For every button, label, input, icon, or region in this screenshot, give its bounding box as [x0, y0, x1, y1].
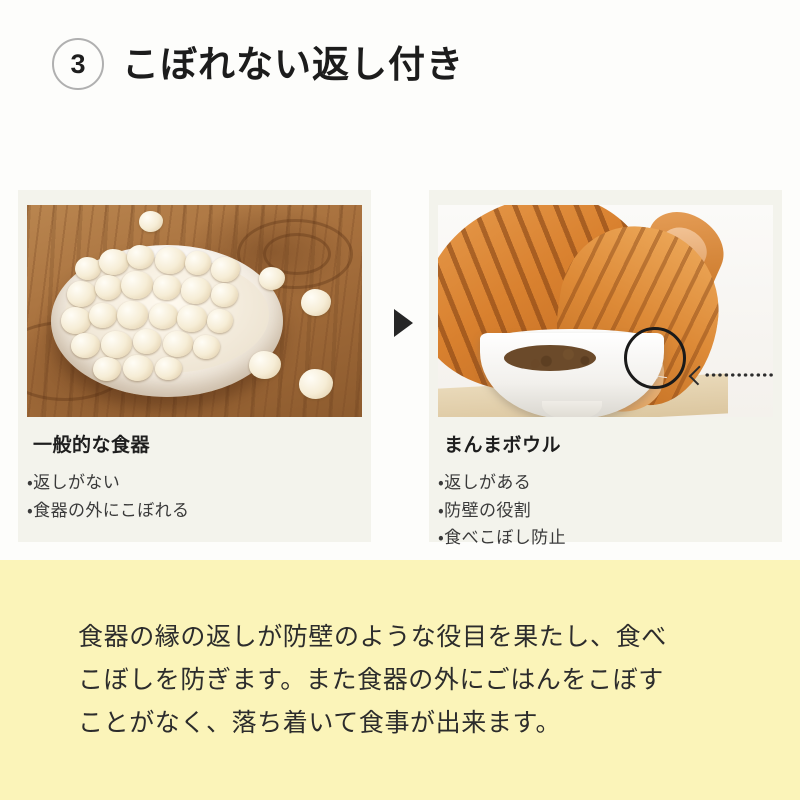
infographic-page: 3 こぼれない返し付き: [0, 0, 800, 800]
comparison-panel-right: まんまボウル ・返しがある ・防壁の役割 ・食べこぼし防止: [429, 190, 782, 542]
list-item: ・防壁の役割: [438, 497, 768, 525]
cat-food-kibble: [504, 345, 596, 371]
page-title: こぼれない返し付き: [122, 46, 464, 83]
caption-bullet-list: ・返しがない ・食器の外にこぼれる: [27, 469, 357, 524]
list-item: ・食べこぼし防止: [438, 524, 768, 552]
caption-title: 一般的な食器: [33, 430, 357, 457]
photo-manma-bowl: [438, 205, 773, 417]
triangle-right-icon: [394, 309, 413, 337]
comparison-section: 一般的な食器 ・返しがない ・食器の外にこぼれる: [0, 190, 800, 542]
summary-line-3: ことがなく、落ち着いて食事が出来ます。: [78, 702, 738, 745]
list-item: ・食器の外にこぼれる: [27, 497, 357, 525]
summary-text: 食器の縁の返しが防壁のような役目を果たし、食べ こぼしを防ぎます。また食器の外に…: [78, 616, 738, 745]
caption-title: まんまボウル: [444, 430, 768, 457]
comparison-panel-left: 一般的な食器 ・返しがない ・食器の外にこぼれる: [18, 190, 371, 542]
dotted-arrow-icon: [692, 368, 773, 382]
caption-common-bowl: 一般的な食器 ・返しがない ・食器の外にこぼれる: [27, 430, 357, 524]
summary-line-2: こぼしを防ぎます。また食器の外にごはんをこぼす: [78, 659, 738, 702]
arrow-dots: [704, 373, 773, 377]
page-heading: 3 こぼれない返し付き: [52, 38, 464, 90]
caption-bullet-list: ・返しがある ・防壁の役割 ・食べこぼし防止: [438, 469, 768, 552]
photo-common-bowl: [27, 205, 362, 417]
step-number-text: 3: [70, 49, 85, 80]
step-number-badge: 3: [52, 38, 104, 90]
list-item: ・返しがない: [27, 469, 357, 497]
summary-band: 食器の縁の返しが防壁のような役目を果たし、食べ こぼしを防ぎます。また食器の外に…: [0, 560, 800, 800]
rim-highlight-circle-icon: [624, 327, 686, 389]
bowl-foot: [542, 401, 602, 417]
caption-manma-bowl: まんまボウル ・返しがある ・防壁の役割 ・食べこぼし防止: [438, 430, 768, 552]
summary-line-1: 食器の縁の返しが防壁のような役目を果たし、食べ: [78, 616, 738, 659]
list-item: ・返しがある: [438, 469, 768, 497]
